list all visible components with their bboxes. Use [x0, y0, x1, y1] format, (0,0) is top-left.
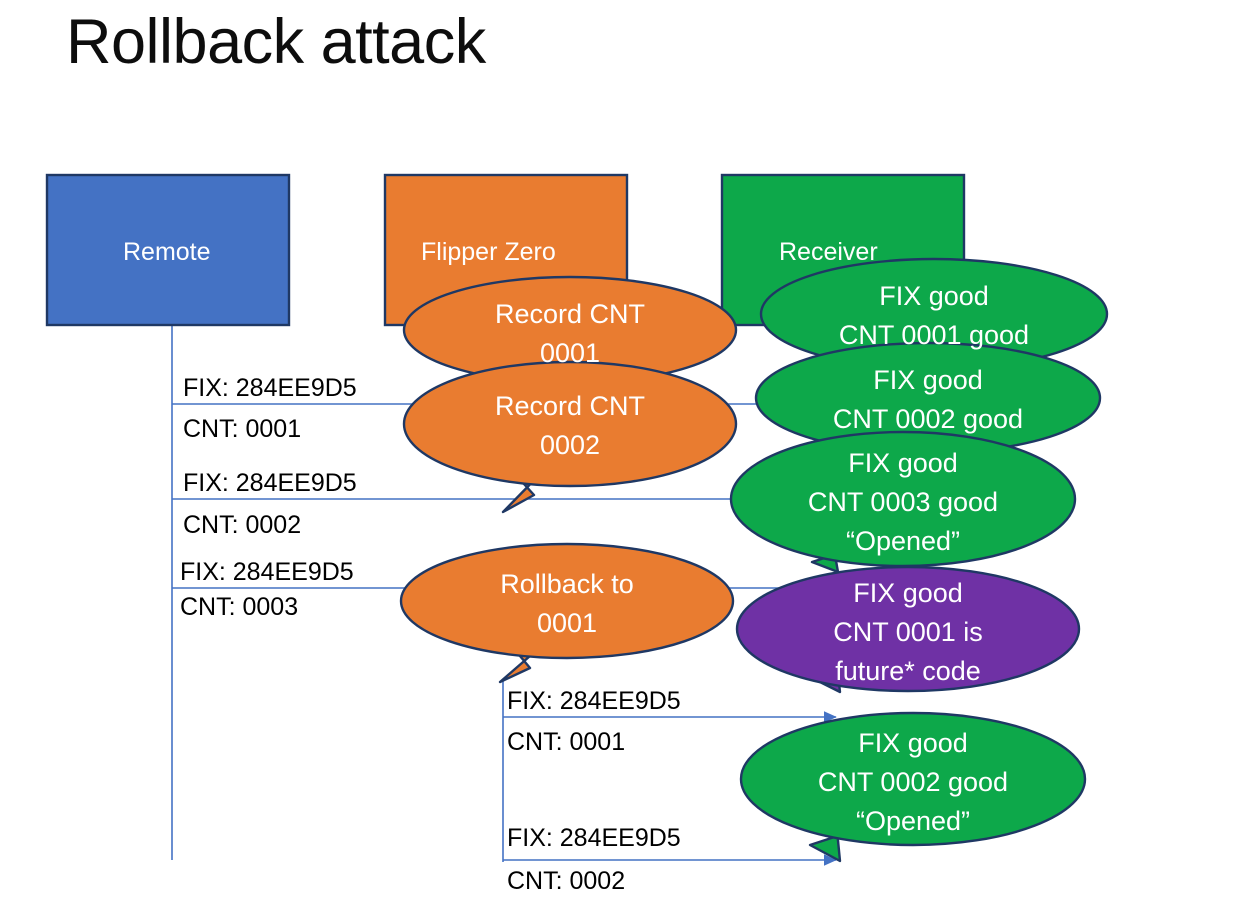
bubble-record-0002-label: Record CNT 0002: [470, 387, 670, 465]
bubble-line: Record CNT: [470, 295, 670, 334]
bubble-line: FIX good: [800, 724, 1026, 763]
bubble-line: Rollback to: [467, 565, 667, 604]
message-4-cnt: CNT: 0001: [507, 727, 625, 757]
bubble-line: FIX good: [795, 574, 1021, 613]
bubble-verdict-4-label: FIX good CNT 0001 is future* code: [795, 574, 1021, 691]
message-5-cnt: CNT: 0002: [507, 866, 625, 896]
actor-label-receiver: Receiver: [779, 238, 878, 267]
bubble-line: “Opened”: [800, 802, 1026, 841]
message-1-fix: FIX: 284EE9D5: [183, 373, 357, 403]
bubble-line: CNT 0002 good: [815, 400, 1041, 439]
bubble-verdict-5-label: FIX good CNT 0002 good “Opened”: [800, 724, 1026, 841]
bubble-line: “Opened”: [790, 522, 1016, 561]
bubble-line: 0001: [470, 334, 670, 373]
bubble-verdict-2-label: FIX good CNT 0002 good: [815, 361, 1041, 439]
message-3-fix: FIX: 284EE9D5: [180, 557, 354, 587]
bubble-verdict-3-label: FIX good CNT 0003 good “Opened”: [790, 444, 1016, 561]
bubble-verdict-1-label: FIX good CNT 0001 good: [821, 277, 1047, 355]
message-5-fix: FIX: 284EE9D5: [507, 823, 681, 853]
bubble-line: CNT 0003 good: [790, 483, 1016, 522]
message-1-cnt: CNT: 0001: [183, 414, 301, 444]
bubble-line: FIX good: [821, 277, 1047, 316]
message-3-cnt: CNT: 0003: [180, 592, 298, 622]
bubble-line: FIX good: [815, 361, 1041, 400]
bubble-line: Record CNT: [470, 387, 670, 426]
bubble-line: CNT 0002 good: [800, 763, 1026, 802]
actor-label-flipper: Flipper Zero: [421, 238, 556, 267]
bubble-line: CNT 0001 is: [795, 613, 1021, 652]
bubble-line: FIX good: [790, 444, 1016, 483]
bubble-rollback-0001-label: Rollback to 0001: [467, 565, 667, 643]
bubble-line: 0001: [467, 604, 667, 643]
bubble-record-0001-label: Record CNT 0001: [470, 295, 670, 373]
message-2-fix: FIX: 284EE9D5: [183, 468, 357, 498]
text-layer: Remote Flipper Zero Receiver Record CNT …: [0, 0, 1233, 898]
actor-label-remote: Remote: [123, 238, 211, 267]
bubble-line: 0002: [470, 426, 670, 465]
bubble-line: future* code: [795, 652, 1021, 691]
message-4-fix: FIX: 284EE9D5: [507, 686, 681, 716]
slide-canvas: Rollback attack: [0, 0, 1233, 898]
bubble-line: CNT 0001 good: [821, 316, 1047, 355]
message-2-cnt: CNT: 0002: [183, 510, 301, 540]
